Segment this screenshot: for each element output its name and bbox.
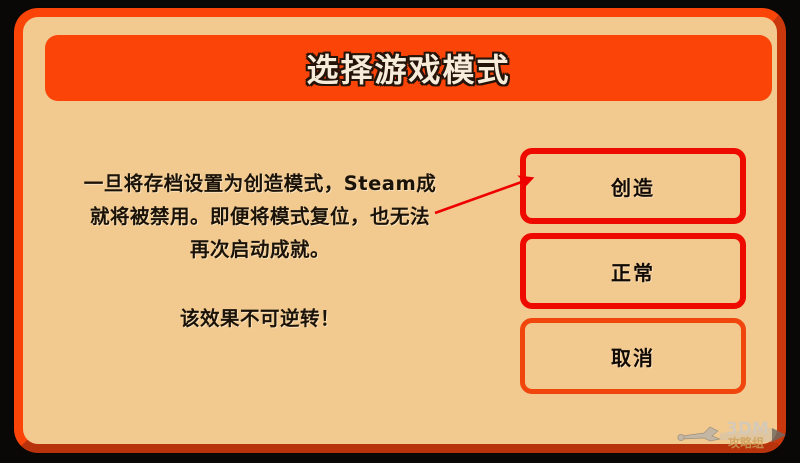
irreversible-warning-text: 该效果不可逆转！ [45, 302, 475, 331]
game-dialog-screenshot: 选择游戏模式 一旦将存档设置为创造模式，Steam成 就将被禁用。即便将模式复位… [0, 0, 800, 463]
cancel-button-label: 取消 [611, 342, 655, 371]
creative-mode-button-label: 创造 [611, 172, 655, 201]
message-line-2: 就将被禁用。即便将模式复位，也无法 [45, 200, 475, 233]
dialog-title: 选择游戏模式 [306, 45, 510, 91]
message-line-3: 再次启动成就。 [45, 233, 475, 266]
dialog-message-block: 一旦将存档设置为创造模式，Steam成 就将被禁用。即便将模式复位，也无法 再次… [45, 167, 475, 331]
message-line-1: 一旦将存档设置为创造模式，Steam成 [45, 167, 475, 200]
dialog-frame: 选择游戏模式 一旦将存档设置为创造模式，Steam成 就将被禁用。即便将模式复位… [14, 8, 786, 453]
normal-mode-button[interactable]: 正常 [520, 233, 746, 309]
creative-mode-button[interactable]: 创造 [520, 148, 746, 224]
mode-button-group: 创造 正常 取消 [520, 148, 748, 403]
normal-mode-button-label: 正常 [611, 257, 655, 286]
dialog-header-bar: 选择游戏模式 [45, 35, 772, 101]
cancel-button[interactable]: 取消 [520, 318, 746, 394]
